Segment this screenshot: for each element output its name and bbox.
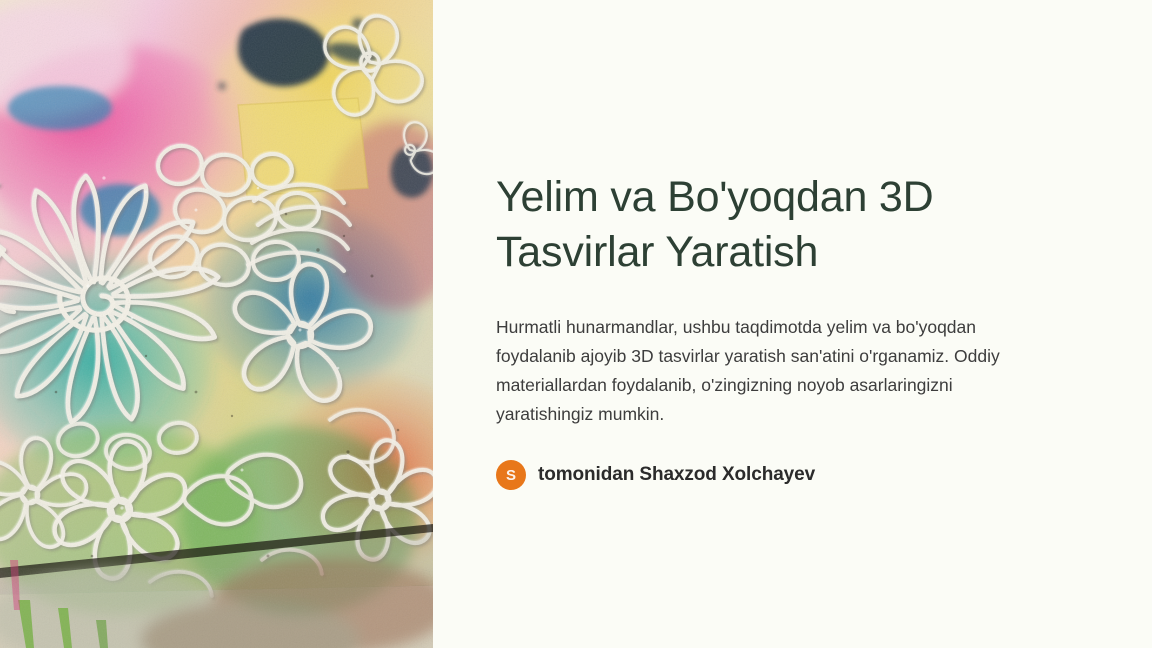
slide-text-pane: Yelim va Bo'yoqdan 3D Tasvirlar Yaratish… (433, 0, 1152, 648)
author-avatar: S (496, 460, 526, 490)
slide-title: Yelim va Bo'yoqdan 3D Tasvirlar Yaratish (496, 170, 1016, 280)
slide-artwork-image (0, 0, 433, 648)
presentation-slide: Yelim va Bo'yoqdan 3D Tasvirlar Yaratish… (0, 0, 1152, 648)
artwork-illustration (0, 0, 433, 648)
author-byline-row: S tomonidan Shaxzod Xolchayev (496, 460, 1152, 490)
slide-body-text: Hurmatli hunarmandlar, ushbu taqdimotda … (496, 313, 1036, 429)
author-name: tomonidan Shaxzod Xolchayev (538, 464, 815, 486)
